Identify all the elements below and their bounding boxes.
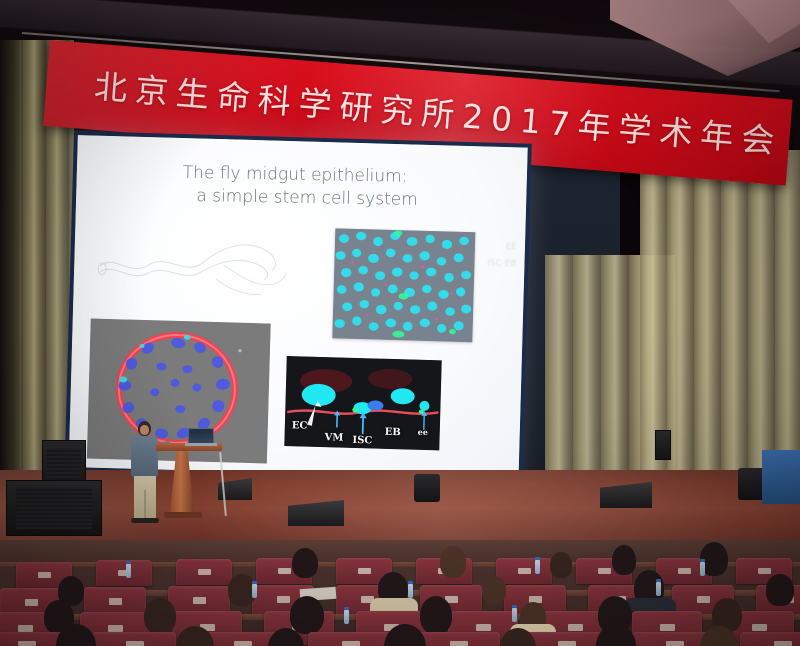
water-bottle [126,564,131,578]
panel-epithelium-layer: EC VM ISC EB ee [284,356,441,450]
podium-base [164,512,202,518]
seat-number-tag [598,568,610,574]
slide-title: The fly midgut epithelium: a simple stem… [182,162,513,213]
water-bottle [512,608,517,622]
presenter-laptop-base [185,443,217,446]
fly-gut-sketch [95,232,297,308]
seat-number-tag [558,641,576,646]
water-bottle [344,610,349,624]
seat-number-tag [126,641,144,646]
bottle-cap [512,605,517,608]
seat-number-tag [697,596,711,603]
seat-number-tag [278,568,290,574]
seat [176,559,232,585]
label-ec: EC [292,420,308,431]
seat-number-tag [234,641,252,646]
label-eb: EB [385,427,401,438]
stage-floor-reflection [0,470,800,540]
seat-number-tag [358,568,370,574]
seat-number-tag [774,641,792,646]
seat-number-tag [342,641,360,646]
audience-head [612,545,636,575]
audience-head [420,596,452,634]
seat-number-tag [568,624,583,631]
cross-section-image [87,319,271,464]
audience-head [440,546,466,578]
presenter-torso [131,435,158,477]
seat-number-tag [25,599,39,606]
bottle-cap [126,561,131,564]
water-bottle [408,584,413,598]
audience-head [144,598,176,634]
label-isc: ISC [352,435,372,447]
seat-number-tag [109,598,123,605]
bottle-cap [535,557,540,560]
water-bottle [700,562,705,576]
seat-number-tag [518,568,530,574]
bottle-cap [408,581,413,584]
seat-number-tag [752,624,767,631]
audience-head [482,576,506,604]
seat [92,632,176,646]
slide-side-line-1: EE [447,237,517,256]
speaker-right-rear [655,430,671,460]
label-ee: ee [418,427,428,437]
audience-head [550,552,572,578]
moving-head-light-center [414,474,440,502]
subwoofer-left [6,480,102,536]
seat-number-tag [277,596,291,603]
seat-number-tag [38,572,50,578]
seat-number-tag [660,624,675,631]
audience-area [0,540,800,646]
presenter-laptop-screen [188,428,214,444]
projection-screen-frame: The fly midgut epithelium: a simple stem… [65,131,532,484]
panel-gut-cross-section [87,319,271,464]
slide-side-line-2: ISC EB [446,255,516,274]
seat-number-tag [450,641,468,646]
seat [740,632,800,646]
auditorium-scene: 北京生命科学研究所2017年学术年会 The fly midgut epithe… [0,0,800,646]
water-bottle [656,582,661,596]
presenter-face [140,425,149,435]
seat [96,560,152,586]
water-bottle [252,584,257,598]
audience-head [292,548,318,578]
audience-head [766,574,794,606]
bottle-cap [656,579,661,582]
seat-number-tag [193,597,207,604]
seat-number-tag [758,568,770,574]
seat [308,632,392,646]
label-vm: VM [324,432,343,444]
seat-number-tag [678,568,690,574]
slide-title-line-1: The fly midgut epithelium: [183,163,408,187]
subwoofer-grill [16,487,91,528]
seat-number-tag [666,641,684,646]
audience-head [290,596,324,634]
road-case-right [762,450,800,504]
slide-side-annotations: EE ISC EB [446,237,517,273]
bottle-cap [344,607,349,610]
bottle-cap [700,559,705,562]
seat [496,558,552,584]
seat-number-tag [18,641,36,646]
seat [416,632,500,646]
stage-curtain-left-shadow [0,40,20,480]
seat-number-tag [476,624,491,631]
slide-title-line-2: a simple stem cell system [196,185,512,213]
bottle-cap [252,581,257,584]
water-bottle [535,560,540,574]
presenter-shoes [131,518,159,523]
seat-number-tag [198,569,210,575]
presenter-leg-divider [144,490,146,520]
